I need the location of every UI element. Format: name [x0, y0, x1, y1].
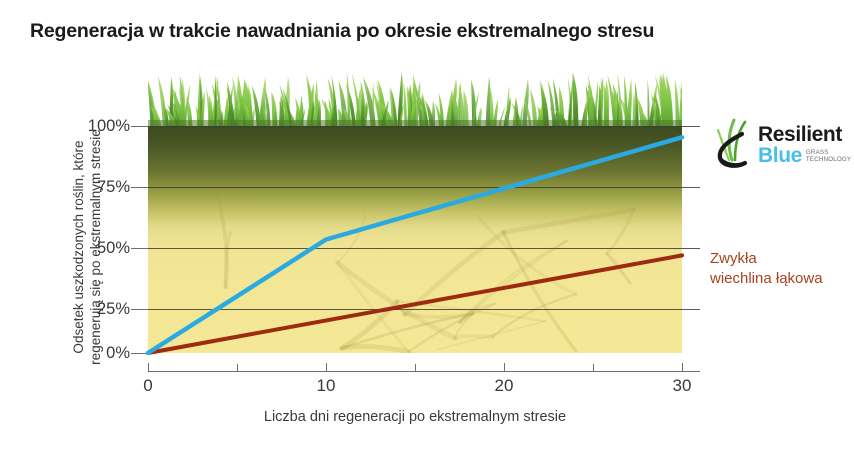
- logo-name-bottom: Blue: [758, 146, 802, 166]
- y-axis-title: Odsetek uszkodzonych roślin, które regen…: [70, 97, 104, 397]
- xtick-10: [326, 363, 327, 372]
- x-axis-line: [148, 371, 700, 372]
- xtick-25: [593, 364, 594, 372]
- xtick-15: [415, 364, 416, 372]
- xtick-label-30: 30: [652, 376, 712, 396]
- logo-name-top: Resilient: [758, 124, 851, 146]
- series-line-resilient: [148, 137, 682, 353]
- y-axis-title-line2: regenerują się po ekstremalnym stresie: [87, 97, 104, 397]
- logo-tagline-line2: TECHNOLOGY: [806, 156, 851, 163]
- legend-ordinary-grass: Zwykła wiechlina łąkowa: [710, 249, 850, 289]
- logo-name-bottom-row: Blue GRASS TECHNOLOGY: [758, 146, 851, 166]
- legend-ordinary-line2: wiechlina łąkowa: [710, 269, 850, 289]
- grass-illustration: [148, 70, 682, 128]
- legend-ordinary-line1: Zwykła: [710, 249, 850, 269]
- ytick-stub-0: [131, 353, 148, 354]
- logo-tagline: GRASS TECHNOLOGY: [806, 149, 851, 166]
- plot-area: [148, 126, 682, 353]
- x-axis-title: Liczba dni regeneracji po ekstremalnym s…: [148, 409, 682, 425]
- xtick-0: [148, 363, 149, 372]
- logo-wordmark: Resilient Blue GRASS TECHNOLOGY: [758, 124, 851, 166]
- ytick-stub-75: [131, 187, 148, 188]
- xtick-5: [237, 364, 238, 372]
- ytick-stub-100: [131, 126, 148, 127]
- logo-grass-swoosh-icon: [712, 114, 756, 178]
- chart-root: Regeneracja w trakcie nawadniania po okr…: [0, 0, 854, 468]
- y-axis-title-line1: Odsetek uszkodzonych roślin, które: [70, 97, 87, 397]
- xtick-label-10: 10: [296, 376, 356, 396]
- series-layer: [148, 126, 682, 353]
- ytick-stub-50: [131, 248, 148, 249]
- xtick-20: [504, 363, 505, 372]
- page-title: Regeneracja w trakcie nawadniania po okr…: [30, 20, 820, 43]
- logo-tagline-line1: GRASS: [806, 149, 851, 156]
- brand-logo: Resilient Blue GRASS TECHNOLOGY: [712, 112, 848, 182]
- ytick-stub-25: [131, 309, 148, 310]
- xtick-label-20: 20: [474, 376, 534, 396]
- xtick-label-0: 0: [118, 376, 178, 396]
- xtick-30: [682, 363, 683, 372]
